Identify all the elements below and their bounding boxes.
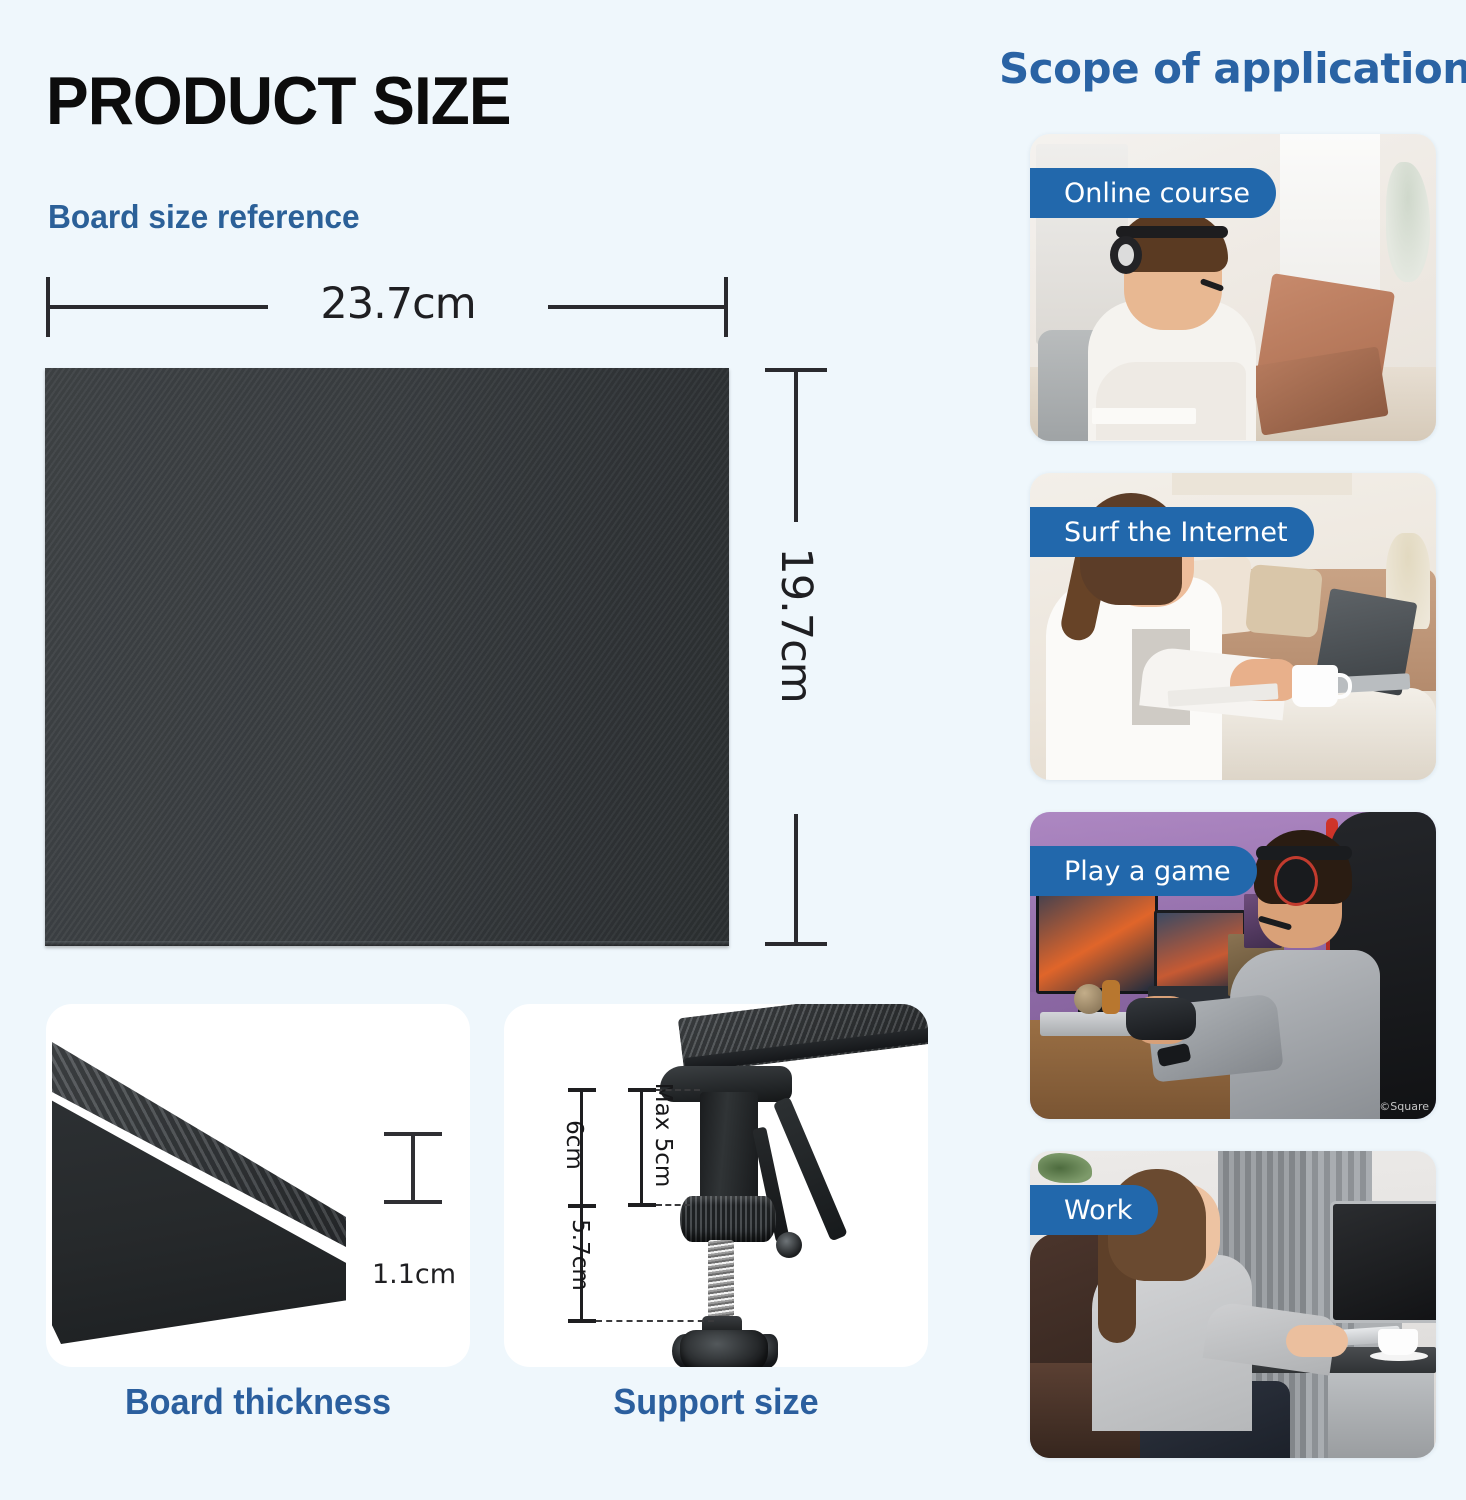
- threaded-screw: [708, 1240, 734, 1326]
- person-hand: [1286, 1325, 1348, 1357]
- desk-pedestal: [1328, 1373, 1434, 1458]
- scope-photo-surf-the-internet: Surf the Internet: [1030, 473, 1436, 780]
- dimension-line-segment: [794, 814, 798, 944]
- coffee-cup: [1378, 1329, 1418, 1355]
- dimension-tick: [568, 1088, 596, 1092]
- dimension-tick: [628, 1203, 656, 1207]
- board-thickness-card: 1.1cm: [46, 1004, 470, 1367]
- total-height-label: 6cm: [561, 1103, 587, 1187]
- scope-title: Scope of application: [999, 44, 1466, 93]
- dimension-line-segment: [548, 305, 726, 309]
- board-width-dimension: 23.7cm: [46, 277, 728, 337]
- clamp-illustration: 6cm 5.7cm Max 5cm: [504, 1004, 928, 1367]
- dimension-line-segment: [411, 1134, 415, 1202]
- plant: [1038, 1153, 1092, 1183]
- headset-earcup-inner: [1118, 244, 1134, 266]
- board-height-label: 19.7cm: [771, 535, 821, 715]
- dimension-line-segment: [48, 305, 268, 309]
- person-arm: [1096, 362, 1246, 440]
- board-thickness-caption: Board thickness: [57, 1381, 460, 1423]
- thickness-dimension: [384, 1132, 442, 1204]
- scope-badge-surf-the-internet: Surf the Internet: [1030, 507, 1314, 557]
- scope-badge-online-course: Online course: [1030, 168, 1276, 218]
- max-clamp-dimension-line: [640, 1088, 643, 1206]
- knurled-thumbwheel: [680, 1196, 776, 1242]
- lower-height-label: 5.7cm: [567, 1205, 593, 1305]
- product-size-section: PRODUCT SIZE Board size reference 23.7cm…: [0, 0, 960, 1500]
- board-illustration: [45, 368, 729, 946]
- pivot-joint: [776, 1232, 802, 1258]
- figurine: [1102, 980, 1120, 1014]
- game-controller: [1126, 998, 1196, 1040]
- plant: [1386, 162, 1430, 282]
- headset-band: [1116, 226, 1228, 238]
- desk-ornament: [1074, 984, 1104, 1014]
- leader-dash: [656, 1204, 690, 1206]
- support-size-card: 6cm 5.7cm Max 5cm: [504, 1004, 928, 1367]
- scope-photo-work: Work: [1030, 1151, 1436, 1458]
- board-size-subtitle: Board size reference: [48, 198, 360, 236]
- scope-photo-online-course: Online course: [1030, 134, 1436, 441]
- thickness-label: 1.1cm: [362, 1259, 466, 1290]
- leader-dash: [596, 1320, 714, 1322]
- monitor: [1330, 1201, 1436, 1323]
- page-title: PRODUCT SIZE: [46, 62, 511, 140]
- notebook: [1092, 408, 1196, 424]
- board-width-label: 23.7cm: [288, 279, 508, 329]
- wall-art: [1172, 473, 1352, 495]
- board-edge-illustration: [52, 1032, 352, 1344]
- leader-dash: [656, 1089, 700, 1091]
- scope-badge-work: Work: [1030, 1185, 1158, 1235]
- headset-earcup: [1274, 856, 1318, 906]
- star-knob: [680, 1330, 768, 1367]
- dimension-line-segment: [794, 370, 798, 522]
- support-size-caption: Support size: [515, 1381, 918, 1423]
- dimension-tick: [568, 1319, 596, 1323]
- cushion: [1245, 564, 1323, 638]
- scope-photo-play-a-game: Play a game ©Square: [1030, 812, 1436, 1119]
- scope-badge-play-a-game: Play a game: [1030, 846, 1257, 896]
- scope-of-application-section: Scope of application Online course: [960, 0, 1466, 1500]
- photo-watermark: ©Square: [1379, 1100, 1429, 1113]
- board-height-dimension: 19.7cm: [765, 368, 827, 946]
- keyboard: [1040, 1012, 1138, 1036]
